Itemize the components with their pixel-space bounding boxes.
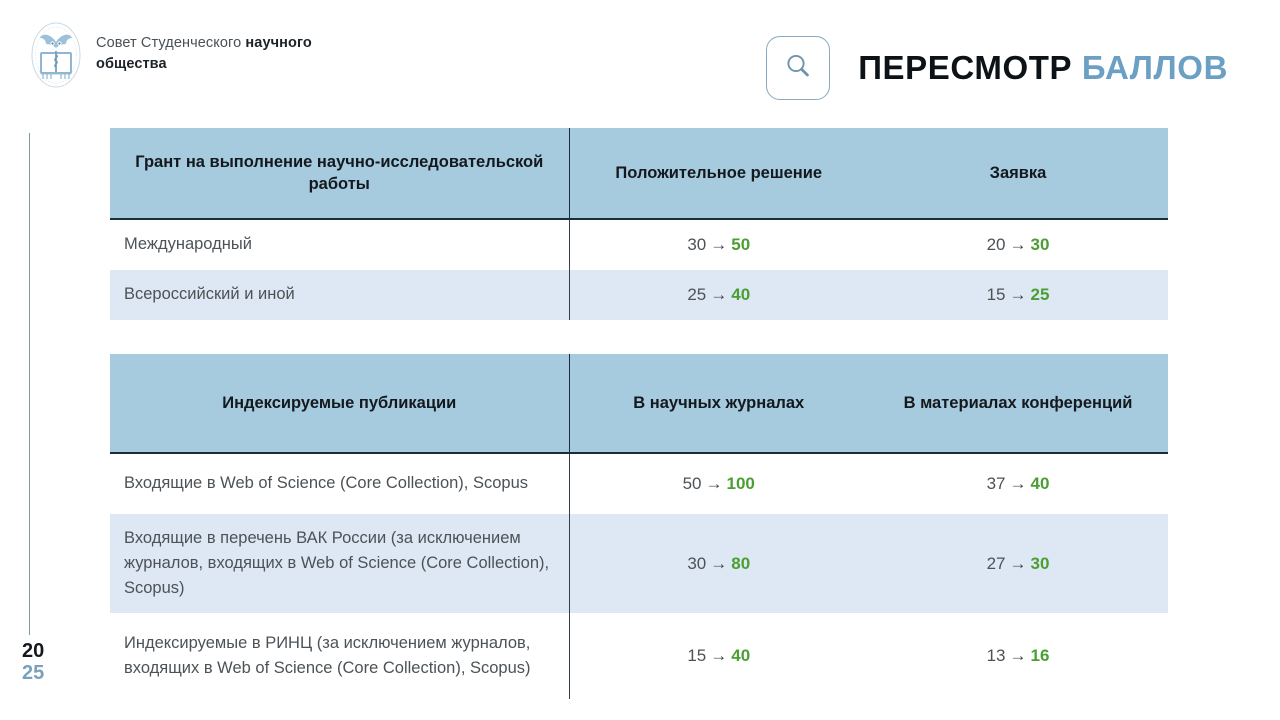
old-value: 30 — [687, 235, 706, 254]
new-value: 40 — [1031, 474, 1050, 493]
year-marker: 20 25 — [22, 640, 44, 685]
page-title-accent: БАЛЛОВ — [1082, 49, 1228, 86]
year-bottom: 25 — [22, 662, 44, 684]
row-label: Всероссийский и иной — [110, 270, 569, 320]
table-row: Входящие в перечень ВАК России (за исклю… — [110, 514, 1168, 613]
arrow-icon: → — [706, 235, 731, 254]
arrow-icon: → — [1006, 235, 1031, 254]
row-value-col2: 20→30 — [868, 219, 1168, 270]
table-row: Индексируемые в РИНЦ (за исключением жур… — [110, 613, 1168, 699]
search-icon-box[interactable] — [766, 36, 830, 100]
left-vertical-rule — [29, 133, 30, 635]
arrow-icon: → — [1006, 474, 1031, 493]
page-title: ПЕРЕСМОТР БАЛЛОВ — [858, 49, 1228, 87]
new-value: 25 — [1031, 285, 1050, 304]
arrow-icon: → — [706, 554, 731, 573]
table-header-row: Грант на выполнение научно-исследователь… — [110, 128, 1168, 219]
new-value: 100 — [727, 474, 755, 493]
old-value: 15 — [987, 285, 1006, 304]
row-value-col1: 30→80 — [569, 514, 868, 613]
old-value: 13 — [987, 646, 1006, 665]
brand-block: Совет Студенческого научного общества — [28, 20, 312, 90]
title-block: ПЕРЕСМОТР БАЛЛОВ — [766, 36, 1228, 100]
arrow-icon: → — [1006, 285, 1031, 304]
publications-table: Индексируемые публикации В научных журна… — [110, 354, 1168, 699]
row-value-col1: 15→40 — [569, 613, 868, 699]
new-value: 16 — [1031, 646, 1050, 665]
arrow-icon: → — [706, 285, 731, 304]
old-value: 27 — [987, 554, 1006, 573]
year-top: 20 — [22, 640, 44, 662]
slide-header: Совет Студенческого научного общества ПЕ… — [0, 0, 1280, 120]
arrow-icon: → — [1006, 646, 1031, 665]
table-row: Международный 30→50 20→30 — [110, 219, 1168, 270]
table-row: Всероссийский и иной 25→40 15→25 — [110, 270, 1168, 320]
new-value: 30 — [1031, 554, 1050, 573]
grants-header-col1: Положительное решение — [569, 128, 868, 219]
new-value: 30 — [1031, 235, 1050, 254]
search-icon — [783, 51, 813, 86]
old-value: 30 — [687, 554, 706, 573]
row-value-col2: 13→16 — [868, 613, 1168, 699]
brand-name-line1-bold: научного — [245, 35, 311, 51]
row-label: Входящие в Web of Science (Core Collecti… — [110, 453, 569, 514]
new-value: 50 — [731, 235, 750, 254]
table-row: Входящие в Web of Science (Core Collecti… — [110, 453, 1168, 514]
arrow-icon: → — [702, 474, 727, 493]
table-header-row: Индексируемые публикации В научных журна… — [110, 354, 1168, 453]
publications-header-col1: В научных журналах — [569, 354, 868, 453]
old-value: 50 — [683, 474, 702, 493]
arrow-icon: → — [706, 646, 731, 665]
new-value: 80 — [731, 554, 750, 573]
new-value: 40 — [731, 646, 750, 665]
row-value-col2: 27→30 — [868, 514, 1168, 613]
page-title-primary: ПЕРЕСМОТР — [858, 49, 1072, 86]
publications-header-label: Индексируемые публикации — [110, 354, 569, 453]
row-value-col2: 37→40 — [868, 453, 1168, 514]
old-value: 15 — [687, 646, 706, 665]
row-label: Международный — [110, 219, 569, 270]
grants-table: Грант на выполнение научно-исследователь… — [110, 128, 1168, 320]
row-value-col1: 30→50 — [569, 219, 868, 270]
brand-name-line1-light: Совет Студенческого — [96, 35, 245, 51]
brand-name: Совет Студенческого научного общества — [96, 20, 312, 74]
old-value: 25 — [687, 285, 706, 304]
publications-header-col2: В материалах конференций — [868, 354, 1168, 453]
grants-header-label: Грант на выполнение научно-исследователь… — [110, 128, 569, 219]
row-value-col1: 50→100 — [569, 453, 868, 514]
row-value-col2: 15→25 — [868, 270, 1168, 320]
row-value-col1: 25→40 — [569, 270, 868, 320]
grants-header-col2: Заявка — [868, 128, 1168, 219]
row-label: Входящие в перечень ВАК России (за исклю… — [110, 514, 569, 613]
owl-book-caduceus-seal-logo — [28, 20, 84, 90]
row-label: Индексируемые в РИНЦ (за исключением жур… — [110, 613, 569, 699]
new-value: 40 — [731, 285, 750, 304]
arrow-icon: → — [1006, 554, 1031, 573]
old-value: 37 — [987, 474, 1006, 493]
brand-name-line2: общества — [96, 56, 167, 72]
old-value: 20 — [987, 235, 1006, 254]
